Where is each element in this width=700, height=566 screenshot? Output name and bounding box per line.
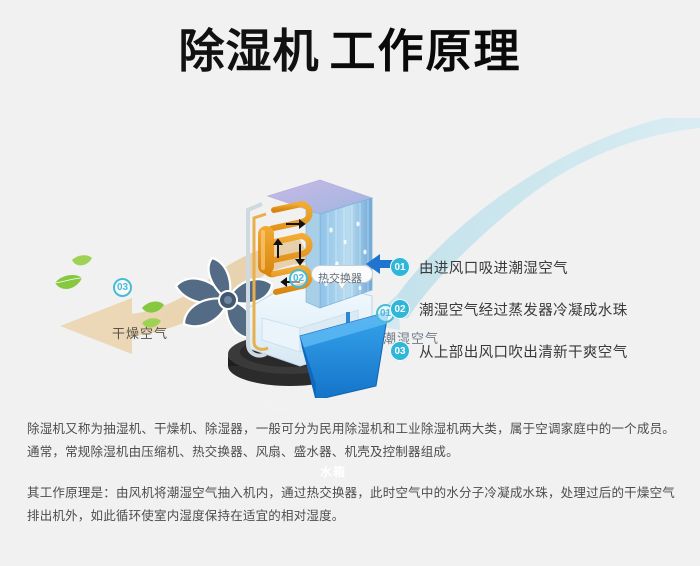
- body-copy: 除湿机又称为抽湿机、干燥机、除湿器，一般可分为民用除湿机和工业除湿机两大类，属于…: [27, 418, 675, 546]
- page-title-secondary: 工作原理: [330, 25, 522, 77]
- paragraph-principle: 其工作原理是：由风机将潮湿空气抽入机内，通过热交换器，此时空气中的水分子冷凝成水…: [27, 482, 675, 528]
- page-title-primary: 除湿机: [179, 25, 320, 77]
- step-badge-02: 02: [390, 299, 410, 319]
- label-heat-exchanger: 热交换器: [318, 270, 362, 286]
- page-title: 除湿机工作原理: [0, 28, 700, 74]
- label-compressor: 压缩机: [263, 399, 296, 415]
- compressor-cylinder: [258, 226, 274, 274]
- step-item: 03 从上部出风口吹出清新干爽空气: [390, 340, 690, 362]
- step-badge-01: 01: [390, 257, 410, 277]
- illustration-badge-02: 02: [289, 269, 308, 288]
- paragraph-definition: 除湿机又称为抽湿机、干燥机、除湿器，一般可分为民用除湿机和工业除湿机两大类，属于…: [27, 418, 675, 464]
- step-text-02: 潮湿空气经过蒸发器冷凝成水珠: [419, 299, 628, 320]
- step-item: 02 潮湿空气经过蒸发器冷凝成水珠: [390, 298, 690, 320]
- evaporator-block: [306, 198, 372, 308]
- step-badge-03: 03: [390, 341, 410, 361]
- step-item: 01 由进风口吸进潮湿空气: [390, 256, 690, 278]
- steps-list: 01 由进风口吸进潮湿空气 02 潮湿空气经过蒸发器冷凝成水珠 03 从上部出风…: [390, 256, 690, 382]
- illustration-badge-03: 03: [113, 278, 132, 297]
- label-dry-air: 干燥空气: [112, 323, 168, 342]
- step-text-01: 由进风口吸进潮湿空气: [419, 257, 568, 278]
- step-text-03: 从上部出风口吹出清新干爽空气: [419, 341, 628, 362]
